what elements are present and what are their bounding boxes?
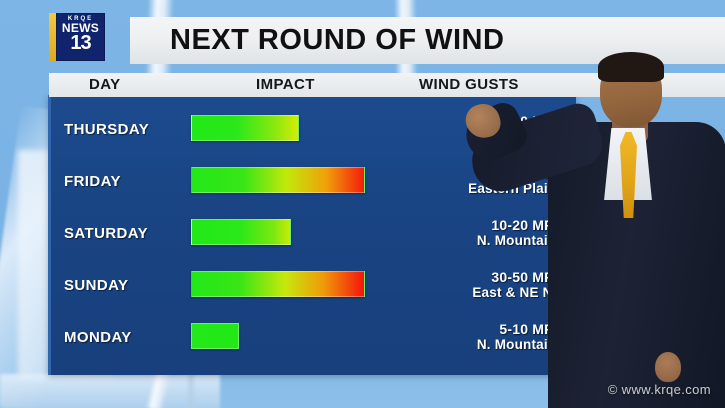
- presenter-lower-hand: [655, 352, 681, 382]
- page-title: NEXT ROUND OF WIND: [170, 24, 504, 57]
- broadcast-stage: NEXT ROUND OF WIND KRQE NEWS 13 DAY IMPA…: [0, 0, 725, 408]
- site-watermark: © www.krqe.com: [608, 382, 711, 397]
- presenter-hair: [598, 52, 664, 82]
- logo-body: KRQE NEWS 13: [56, 13, 105, 61]
- forecast-row: SATURDAY10-20 MPHN. Mountains: [51, 207, 576, 259]
- logo-gold-tab: [49, 13, 56, 61]
- column-header-impact: IMPACT: [256, 76, 315, 93]
- day-label: SUNDAY: [64, 277, 128, 294]
- impact-bar-container: [191, 323, 239, 349]
- impact-bar-container: [191, 271, 365, 297]
- forecast-row: MONDAY5-10 MPHN. Mountains: [51, 311, 576, 363]
- impact-bar-container: [191, 219, 291, 245]
- impact-bar-container: [191, 115, 299, 141]
- impact-bar: [191, 167, 365, 193]
- day-label: MONDAY: [64, 329, 132, 346]
- krqe-news13-logo: KRQE NEWS 13: [49, 13, 105, 61]
- logo-channel-number: 13: [70, 34, 90, 53]
- impact-bar: [191, 323, 239, 349]
- impact-bar: [191, 219, 291, 245]
- day-label: THURSDAY: [64, 121, 149, 138]
- day-label: SATURDAY: [64, 225, 148, 242]
- column-header-day: DAY: [89, 76, 121, 93]
- day-label: FRIDAY: [64, 173, 121, 190]
- impact-bar-container: [191, 167, 365, 193]
- forecast-row: SUNDAY30-50 MPHEast & NE NM: [51, 259, 576, 311]
- impact-bar: [191, 271, 365, 297]
- impact-bar: [191, 115, 299, 141]
- column-header-gusts: WIND GUSTS: [419, 76, 519, 93]
